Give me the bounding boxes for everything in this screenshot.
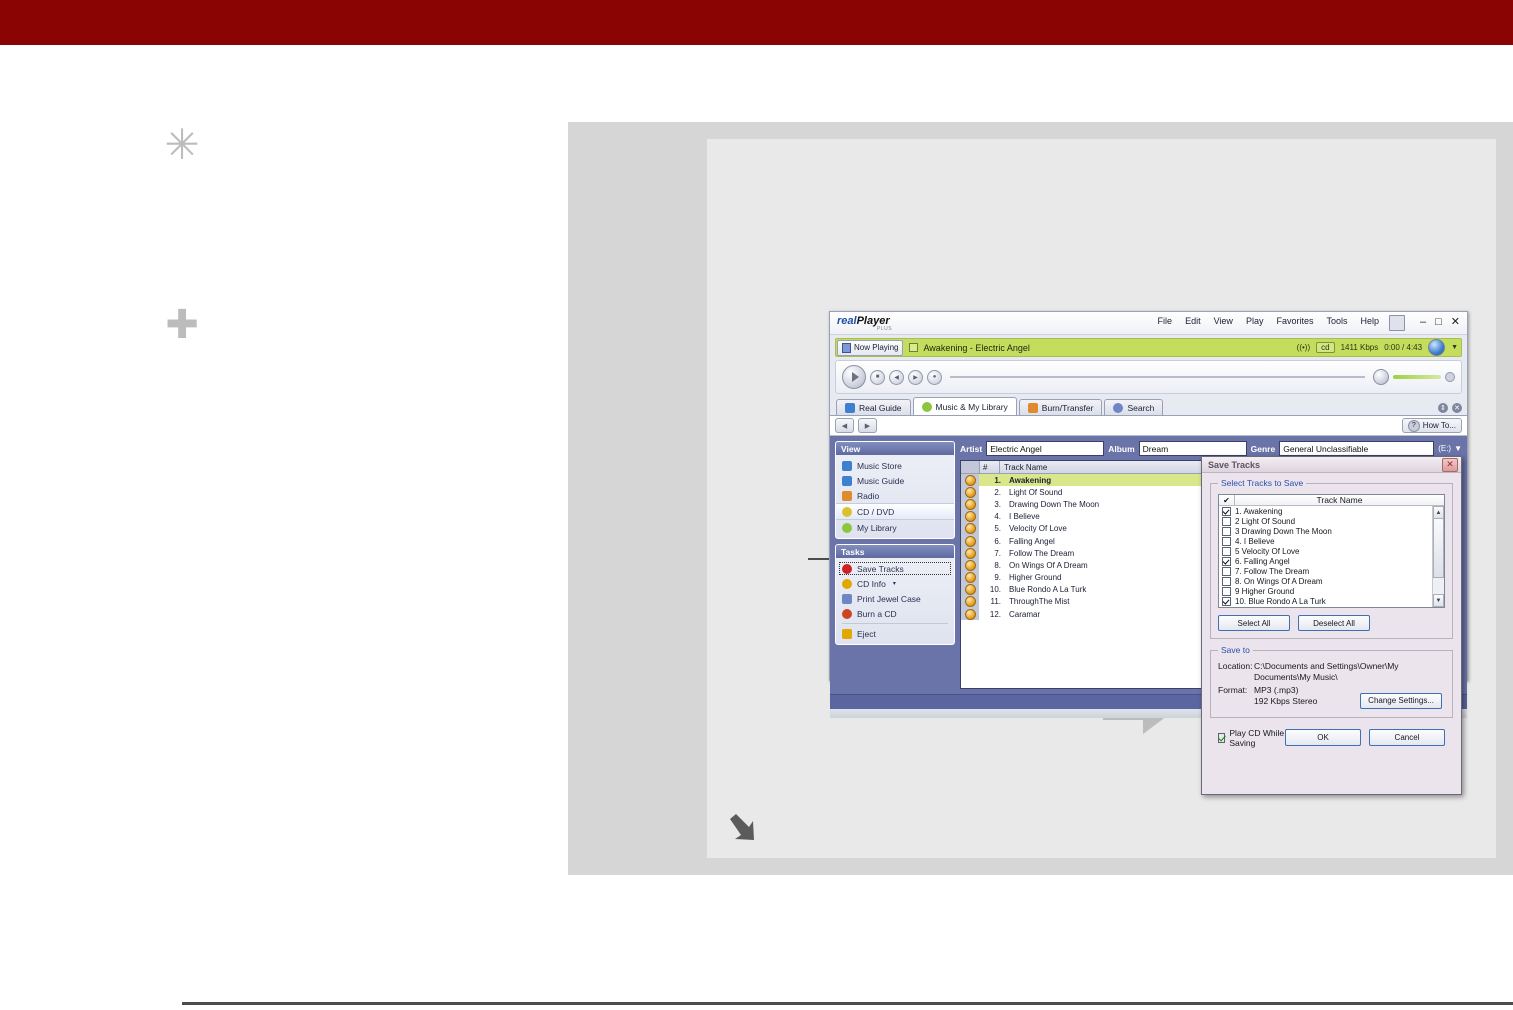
logo-real: real bbox=[837, 315, 857, 327]
music-library-icon bbox=[922, 402, 932, 412]
transport-controls: ■ ◀ ▶ ● bbox=[835, 360, 1462, 394]
menu-tools[interactable]: Tools bbox=[1326, 316, 1347, 326]
search-icon bbox=[1113, 403, 1123, 413]
tasks-panel-list: Save Tracks CD Info ▾ Print Jewel Case B… bbox=[836, 558, 954, 644]
menu-help[interactable]: Help bbox=[1360, 316, 1379, 326]
window-controls: – □ ✕ bbox=[1420, 315, 1460, 328]
volume-slider[interactable] bbox=[1393, 375, 1441, 379]
drive-label: (E:) bbox=[1438, 444, 1451, 453]
track-label: 7. Follow The Dream bbox=[1235, 567, 1309, 576]
sidebar-item-my-library[interactable]: My Library bbox=[836, 520, 954, 535]
menu-bar: File Edit View Play Favorites Tools Help bbox=[1158, 316, 1379, 326]
tab-burn-transfer-label: Burn/Transfer bbox=[1042, 403, 1094, 413]
media-browser-icon[interactable] bbox=[1389, 315, 1405, 331]
cd-track-icon bbox=[961, 596, 979, 608]
forward-button[interactable]: ▶ bbox=[858, 418, 877, 433]
realguide-icon bbox=[845, 403, 855, 413]
radio-icon bbox=[842, 491, 852, 501]
seek-slider[interactable] bbox=[950, 376, 1365, 378]
burn-transfer-icon bbox=[1028, 403, 1038, 413]
deselect-all-button[interactable]: Deselect All bbox=[1298, 615, 1370, 631]
tab-search-label: Search bbox=[1127, 403, 1154, 413]
next-button[interactable]: ▶ bbox=[908, 370, 923, 385]
track-number: 2. bbox=[979, 488, 1005, 497]
task-eject[interactable]: Eject bbox=[836, 626, 954, 641]
cd-track-icon bbox=[961, 572, 979, 584]
track-number: 12. bbox=[979, 610, 1005, 619]
save-to-group: Save to Location: C:\Documents and Setti… bbox=[1210, 645, 1453, 718]
select-tracks-group: Select Tracks to Save ✔ Track Name 1. Aw… bbox=[1210, 478, 1453, 639]
task-burn-a-cd[interactable]: Burn a CD bbox=[836, 606, 954, 621]
track-label: 10. Blue Rondo A La Turk bbox=[1235, 597, 1326, 606]
save-tracks-dialog: Save Tracks ✕ Select Tracks to Save ✔ Tr… bbox=[1201, 456, 1462, 795]
select-all-button[interactable]: Select All bbox=[1218, 615, 1290, 631]
menu-play[interactable]: Play bbox=[1246, 316, 1264, 326]
location-label: Location: bbox=[1218, 661, 1254, 682]
track-number: 6. bbox=[979, 537, 1005, 546]
menu-edit[interactable]: Edit bbox=[1185, 316, 1201, 326]
track-number: 3. bbox=[979, 500, 1005, 509]
list-item[interactable]: 1. Awakening bbox=[1219, 506, 1444, 516]
now-playing-icon bbox=[842, 343, 851, 353]
cd-track-icon bbox=[961, 511, 979, 523]
source-badge: cd bbox=[1316, 342, 1334, 353]
sidebar-item-cd-dvd[interactable]: CD / DVD bbox=[836, 503, 954, 520]
selection-buttons: Select All Deselect All bbox=[1218, 615, 1445, 631]
cd-info-icon bbox=[842, 579, 852, 589]
sidebar-item-music-guide[interactable]: Music Guide bbox=[836, 473, 954, 488]
volume-knob[interactable] bbox=[1445, 372, 1455, 382]
now-playing-status: ((•)) cd 1411 Kbps 0:00 / 4:43 ▼ bbox=[1297, 339, 1461, 356]
track-select-list[interactable]: ✔ Track Name 1. Awakening 2 Light Of Sou… bbox=[1218, 494, 1445, 608]
list-item[interactable]: 5 Velocity Of Love bbox=[1219, 546, 1444, 556]
main-tab-bar: Real Guide Music & My Library Burn/Trans… bbox=[830, 398, 1467, 416]
tab-search[interactable]: Search bbox=[1104, 399, 1163, 415]
tab-music-library[interactable]: Music & My Library bbox=[913, 397, 1017, 415]
track-label: 5 Velocity Of Love bbox=[1235, 547, 1299, 556]
track-checkbox[interactable] bbox=[1222, 587, 1231, 596]
tab-real-guide[interactable]: Real Guide bbox=[836, 399, 911, 415]
task-save-tracks[interactable]: Save Tracks bbox=[836, 561, 954, 576]
cd-track-icon bbox=[961, 523, 979, 535]
bitrate-label: 1411 Kbps bbox=[1341, 343, 1379, 352]
album-label: Album bbox=[1108, 444, 1134, 454]
ok-button[interactable]: OK bbox=[1285, 729, 1361, 746]
mute-button[interactable] bbox=[1373, 369, 1389, 385]
dialog-action-buttons: OK Cancel bbox=[1285, 729, 1445, 746]
select-tracks-legend: Select Tracks to Save bbox=[1218, 478, 1306, 488]
page-header-band bbox=[0, 0, 1513, 45]
focus-outline bbox=[839, 562, 951, 575]
scrollbar-thumb[interactable] bbox=[1433, 518, 1444, 578]
task-label: Eject bbox=[857, 629, 876, 639]
task-label: Burn a CD bbox=[857, 609, 897, 619]
back-button[interactable]: ◀ bbox=[835, 418, 854, 433]
cd-track-icon bbox=[961, 547, 979, 559]
metadata-row: Artist Electric Angel Album Dream Genre … bbox=[960, 441, 1462, 456]
cd-track-icon bbox=[961, 535, 979, 547]
page-footer-rule bbox=[182, 1002, 1513, 1005]
sidebar-item-radio[interactable]: Radio bbox=[836, 488, 954, 503]
view-panel-title: View bbox=[836, 442, 954, 455]
asterisk-icon: ✳ bbox=[162, 125, 202, 165]
artist-input[interactable]: Electric Angel bbox=[986, 441, 1104, 456]
track-checkbox[interactable] bbox=[1222, 597, 1231, 606]
cd-track-icon bbox=[961, 608, 979, 620]
tab-music-library-label: Music & My Library bbox=[936, 402, 1008, 412]
how-to-button[interactable]: ? How To... bbox=[1402, 418, 1462, 433]
task-label: Print Jewel Case bbox=[857, 594, 921, 604]
task-cd-info[interactable]: CD Info ▾ bbox=[836, 576, 954, 591]
print-icon bbox=[842, 594, 852, 604]
list-scrollbar[interactable]: ▲ ≡ ▼ bbox=[1432, 506, 1444, 607]
now-playing-label: Now Playing bbox=[854, 343, 898, 352]
realplayer-titlebar: realPlayer PLUS File Edit View Play Favo… bbox=[830, 312, 1467, 335]
record-button[interactable]: ● bbox=[927, 370, 942, 385]
dialog-title: Save Tracks bbox=[1208, 460, 1260, 470]
cd-track-icon bbox=[961, 584, 979, 596]
genre-input[interactable]: General Unclassifiable bbox=[1279, 441, 1434, 456]
format-bitrate: 192 Kbps Stereo bbox=[1254, 696, 1317, 706]
name-column-header[interactable]: Track Name bbox=[1235, 495, 1444, 505]
track-checkbox[interactable] bbox=[1222, 517, 1231, 526]
tasks-panel: Tasks Save Tracks CD Info ▾ Print Je bbox=[835, 544, 955, 645]
tab-burn-transfer[interactable]: Burn/Transfer bbox=[1019, 399, 1103, 415]
dialog-body: Select Tracks to Save ✔ Track Name 1. Aw… bbox=[1202, 473, 1461, 753]
save-to-legend: Save to bbox=[1218, 645, 1253, 655]
track-label: 4. I Believe bbox=[1235, 537, 1275, 546]
logo-plus: PLUS bbox=[877, 326, 892, 332]
note-icon bbox=[842, 476, 852, 486]
list-body: 1. Awakening 2 Light Of Sound 3 Drawing … bbox=[1219, 506, 1444, 607]
close-panel-icon[interactable]: ✕ bbox=[1452, 403, 1462, 413]
track-number: 5. bbox=[979, 524, 1005, 533]
track-checkbox[interactable] bbox=[1222, 537, 1231, 546]
chevron-down-icon[interactable]: ▾ bbox=[893, 580, 896, 587]
chevron-down-icon[interactable]: ▼ bbox=[1451, 344, 1458, 351]
track-label: 2 Light Of Sound bbox=[1235, 517, 1295, 526]
note-icon bbox=[842, 461, 852, 471]
sidebar-label: CD / DVD bbox=[857, 507, 894, 517]
track-label: 3 Drawing Down The Moon bbox=[1235, 527, 1332, 536]
now-playing-title: Awakening - Electric Angel bbox=[923, 343, 1029, 353]
list-item[interactable]: 2 Light Of Sound bbox=[1219, 516, 1444, 526]
signal-icon: ((•)) bbox=[1297, 343, 1310, 352]
cd-track-icon bbox=[961, 474, 979, 486]
plus-icon: ✚ bbox=[164, 308, 200, 344]
check-column-header[interactable]: ✔ bbox=[1219, 495, 1235, 505]
location-row: Location: C:\Documents and Settings\Owne… bbox=[1218, 661, 1445, 682]
stop-button[interactable]: ■ bbox=[870, 370, 885, 385]
list-item[interactable]: 10. Blue Rondo A La Turk bbox=[1219, 597, 1444, 607]
expand-icon[interactable]: ⇕ bbox=[1438, 403, 1448, 413]
menu-favorites[interactable]: Favorites bbox=[1276, 316, 1313, 326]
close-button[interactable]: ✕ bbox=[1451, 315, 1460, 328]
play-while-saving-row[interactable]: Play CD While Saving bbox=[1218, 728, 1285, 748]
track-checkbox[interactable] bbox=[1222, 557, 1231, 566]
sidebar-label: Music Guide bbox=[857, 476, 904, 486]
tab-real-guide-label: Real Guide bbox=[859, 403, 902, 413]
cd-track-icon bbox=[961, 559, 979, 571]
now-playing-bar: Now Playing Awakening - Electric Angel (… bbox=[835, 338, 1462, 357]
track-checkbox[interactable] bbox=[1222, 527, 1231, 536]
sidebar-label: Music Store bbox=[857, 461, 902, 471]
dialog-titlebar: Save Tracks ✕ bbox=[1202, 457, 1461, 473]
list-item[interactable]: 4. I Believe bbox=[1219, 536, 1444, 546]
play-while-saving-checkbox[interactable] bbox=[1218, 733, 1225, 743]
list-item[interactable]: 9 Higher Ground bbox=[1219, 587, 1444, 597]
list-item[interactable]: 3 Drawing Down The Moon bbox=[1219, 526, 1444, 536]
list-item[interactable]: 7. Follow The Dream bbox=[1219, 567, 1444, 577]
track-checkbox[interactable] bbox=[1222, 547, 1231, 556]
track-label: 9 Higher Ground bbox=[1235, 587, 1294, 596]
eject-icon bbox=[842, 629, 852, 639]
track-number: 1. bbox=[979, 476, 1005, 485]
minimize-button[interactable]: – bbox=[1420, 316, 1426, 328]
track-checkbox[interactable] bbox=[1222, 567, 1231, 576]
format-label: Format: bbox=[1218, 685, 1254, 706]
list-item[interactable]: 6. Falling Angel bbox=[1219, 557, 1444, 567]
view-panel-list: Music Store Music Guide Radio CD / DVD bbox=[836, 455, 954, 538]
track-checkbox[interactable] bbox=[1222, 577, 1231, 586]
previous-button[interactable]: ◀ bbox=[889, 370, 904, 385]
task-label: CD Info bbox=[857, 579, 886, 589]
genre-label: Genre bbox=[1251, 444, 1276, 454]
globe-icon[interactable] bbox=[1428, 339, 1445, 356]
view-panel: View Music Store Music Guide Radio bbox=[835, 441, 955, 539]
track-number: 7. bbox=[979, 549, 1005, 558]
task-print-jewel-case[interactable]: Print Jewel Case bbox=[836, 591, 954, 606]
navigation-bar: ◀ ▶ ? How To... bbox=[830, 416, 1467, 436]
number-column-header[interactable]: # bbox=[980, 461, 1000, 473]
change-settings-button[interactable]: Change Settings... bbox=[1360, 693, 1442, 709]
maximize-button[interactable]: □ bbox=[1435, 316, 1442, 328]
track-checkbox[interactable] bbox=[1222, 507, 1231, 516]
drive-selector[interactable]: (E:) ▼ bbox=[1438, 444, 1462, 453]
track-number: 11. bbox=[979, 597, 1005, 606]
artist-label: Artist bbox=[960, 444, 982, 454]
track-label: 1. Awakening bbox=[1235, 507, 1282, 516]
left-sidebar: View Music Store Music Guide Radio bbox=[835, 441, 955, 689]
track-number: 9. bbox=[979, 573, 1005, 582]
cancel-button[interactable]: Cancel bbox=[1369, 729, 1445, 746]
track-number: 8. bbox=[979, 561, 1005, 570]
menu-file[interactable]: File bbox=[1158, 316, 1173, 326]
how-to-label: How To... bbox=[1423, 421, 1456, 430]
sidebar-label: My Library bbox=[857, 523, 897, 533]
track-label: 8. On Wings Of A Dream bbox=[1235, 577, 1323, 586]
play-while-saving-label: Play CD While Saving bbox=[1229, 728, 1285, 748]
icon-column-header bbox=[961, 461, 980, 473]
now-playing-checkbox[interactable] bbox=[909, 343, 918, 352]
list-item[interactable]: 8. On Wings Of A Dream bbox=[1219, 577, 1444, 587]
dialog-footer: Play CD While Saving OK Cancel bbox=[1210, 724, 1453, 748]
tasks-panel-title: Tasks bbox=[836, 545, 954, 558]
menu-view[interactable]: View bbox=[1214, 316, 1233, 326]
arrow-down-right-icon bbox=[726, 812, 758, 844]
format-codec: MP3 (.mp3) bbox=[1254, 685, 1298, 695]
sidebar-label: Radio bbox=[857, 491, 879, 501]
question-icon: ? bbox=[1408, 420, 1420, 432]
task-divider bbox=[842, 623, 948, 624]
close-icon[interactable]: ✕ bbox=[1442, 458, 1458, 472]
cd-track-icon bbox=[961, 486, 979, 498]
track-label: 6. Falling Angel bbox=[1235, 557, 1290, 566]
tab-bar-actions: ⇕ ✕ bbox=[1438, 403, 1467, 415]
burn-icon bbox=[842, 609, 852, 619]
cd-track-icon bbox=[961, 498, 979, 510]
list-header: ✔ Track Name bbox=[1219, 495, 1444, 506]
play-button[interactable] bbox=[842, 365, 866, 389]
scroll-down-icon[interactable]: ▼ bbox=[1433, 594, 1444, 607]
cd-icon bbox=[842, 507, 852, 517]
location-value: C:\Documents and Settings\Owner\My Docum… bbox=[1254, 661, 1445, 682]
chevron-down-icon: ▼ bbox=[1454, 444, 1462, 453]
now-playing-button[interactable]: Now Playing bbox=[837, 340, 903, 356]
time-label: 0:00 / 4:43 bbox=[1384, 343, 1422, 352]
track-number: 10. bbox=[979, 585, 1005, 594]
track-number: 4. bbox=[979, 512, 1005, 521]
album-input[interactable]: Dream bbox=[1139, 441, 1247, 456]
library-icon bbox=[842, 523, 852, 533]
sidebar-item-music-store[interactable]: Music Store bbox=[836, 458, 954, 473]
